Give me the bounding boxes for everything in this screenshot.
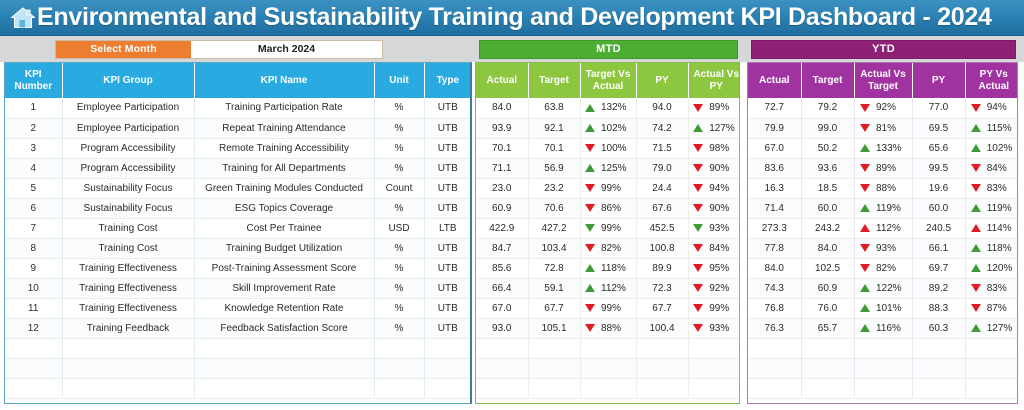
cell-empty	[580, 378, 636, 398]
trend-up-icon	[971, 204, 981, 212]
cell-mtd-py: 67.7	[636, 298, 688, 318]
cell-empty	[912, 358, 965, 378]
cell-mtd-actual-vs-py: 93%	[688, 318, 740, 338]
table-row: 422.9427.299%452.593%	[476, 218, 740, 238]
delta-percent: 84%	[987, 163, 1017, 174]
cell-kpi-group: Training Effectiveness	[62, 258, 194, 278]
trend-down-icon	[585, 244, 595, 252]
cell-mtd-actual-vs-py: 93%	[688, 218, 740, 238]
cell-unit: %	[374, 318, 424, 338]
cell-mtd-py: 71.5	[636, 138, 688, 158]
trend-up-icon	[585, 164, 595, 172]
cell-mtd-target-vs-actual: 86%	[580, 198, 636, 218]
cell-kpi-group: Employee Participation	[62, 118, 194, 138]
cell-mtd-actual-vs-py: 90%	[688, 198, 740, 218]
cell-mtd-py: 452.5	[636, 218, 688, 238]
delta-percent: 93%	[709, 323, 739, 334]
trend-down-icon	[860, 164, 870, 172]
cell-type: UTB	[424, 138, 471, 158]
trend-down-icon	[693, 184, 703, 192]
cell-mtd-py: 100.8	[636, 238, 688, 258]
trend-up-icon	[585, 284, 595, 292]
cell-mtd-py: 100.4	[636, 318, 688, 338]
cell-ytd-target: 76.0	[801, 298, 854, 318]
month-filter-bar: Select Month March 2024	[0, 36, 472, 62]
mtd-table-container: Actual Target Target Vs Actual PY Actual…	[475, 62, 740, 404]
cell-ytd-actual-vs-target: 116%	[854, 318, 912, 338]
cell-ytd-py: 60.3	[912, 318, 965, 338]
cell-kpi-number: 1	[5, 98, 62, 118]
column-header-mtd-target[interactable]: Target	[528, 63, 580, 98]
cell-mtd-target: 72.8	[528, 258, 580, 278]
table-row-empty	[476, 378, 740, 398]
cell-kpi-number: 11	[5, 298, 62, 318]
table-row: 273.3243.2112%240.5114%	[748, 218, 1018, 238]
table-row: 23.023.299%24.494%	[476, 178, 740, 198]
dashboard-body: Select Month March 2024 KPI Number KPI G…	[0, 36, 1024, 410]
delta-percent: 122%	[876, 283, 906, 294]
ytd-table: Actual Target Actual Vs Target PY PY Vs …	[748, 63, 1018, 399]
delta-percent: 90%	[709, 203, 739, 214]
table-row: 71.156.9125%79.090%	[476, 158, 740, 178]
cell-empty	[636, 338, 688, 358]
cell-mtd-actual-vs-py: 92%	[688, 278, 740, 298]
select-month-label: Select Month	[56, 41, 191, 58]
cell-ytd-actual-vs-target: 81%	[854, 118, 912, 138]
trend-up-icon	[860, 224, 870, 232]
delta-percent: 112%	[601, 283, 631, 294]
cell-kpi-number: 2	[5, 118, 62, 138]
cell-ytd-target: 50.2	[801, 138, 854, 158]
column-header-ytd-py[interactable]: PY	[912, 63, 965, 98]
cell-ytd-target: 99.0	[801, 118, 854, 138]
cell-kpi-group: Program Accessibility	[62, 158, 194, 178]
cell-kpi-group: Training Feedback	[62, 318, 194, 338]
delta-percent: 88%	[876, 183, 906, 194]
trend-up-icon	[971, 324, 981, 332]
delta-percent: 127%	[709, 123, 739, 134]
cell-mtd-target-vs-actual: 99%	[580, 218, 636, 238]
delta-percent: 99%	[601, 303, 631, 314]
table-row: 9Training EffectivenessPost-Training Ass…	[5, 258, 471, 278]
trend-down-icon	[693, 264, 703, 272]
cell-empty	[424, 358, 471, 378]
ytd-banner-bar: YTD	[744, 36, 1024, 62]
cell-empty	[854, 358, 912, 378]
cell-ytd-py: 66.1	[912, 238, 965, 258]
cell-unit: Count	[374, 178, 424, 198]
trend-up-icon	[693, 124, 703, 132]
cell-mtd-py: 89.9	[636, 258, 688, 278]
cell-mtd-actual-vs-py: 127%	[688, 118, 740, 138]
table-row-empty	[5, 378, 471, 398]
delta-percent: 133%	[876, 143, 906, 154]
trend-down-icon	[693, 284, 703, 292]
cell-ytd-actual: 77.8	[748, 238, 801, 258]
cell-empty	[476, 358, 528, 378]
column-header-kpi-group[interactable]: KPI Group	[62, 63, 194, 98]
cell-unit: %	[374, 198, 424, 218]
delta-percent: 86%	[601, 203, 631, 214]
cell-mtd-target-vs-actual: 112%	[580, 278, 636, 298]
cell-kpi-name: Feedback Satisfaction Score	[194, 318, 374, 338]
cell-ytd-actual: 79.9	[748, 118, 801, 138]
cell-ytd-py: 88.3	[912, 298, 965, 318]
cell-ytd-py-vs-actual: 83%	[965, 278, 1018, 298]
delta-percent: 132%	[601, 102, 631, 113]
cell-mtd-target: 70.1	[528, 138, 580, 158]
cell-empty	[636, 358, 688, 378]
table-row: 5Sustainability FocusGreen Training Modu…	[5, 178, 471, 198]
table-row: 84.063.8132%94.089%	[476, 98, 740, 118]
trend-down-icon	[693, 144, 703, 152]
cell-mtd-py: 79.0	[636, 158, 688, 178]
table-row: 76.365.7116%60.3127%	[748, 318, 1018, 338]
table-row: 83.693.689%99.584%	[748, 158, 1018, 178]
trend-down-icon	[971, 164, 981, 172]
cell-ytd-target: 65.7	[801, 318, 854, 338]
delta-percent: 90%	[709, 163, 739, 174]
column-header-ytd-target[interactable]: Target	[801, 63, 854, 98]
cell-kpi-group: Employee Participation	[62, 98, 194, 118]
cell-mtd-target-vs-actual: 102%	[580, 118, 636, 138]
cell-kpi-name: Repeat Training Attendance	[194, 118, 374, 138]
cell-empty	[801, 378, 854, 398]
table-row: 2Employee ParticipationRepeat Training A…	[5, 118, 471, 138]
cell-ytd-actual: 71.4	[748, 198, 801, 218]
cell-kpi-number: 4	[5, 158, 62, 178]
cell-empty	[424, 338, 471, 358]
table-row: 60.970.686%67.690%	[476, 198, 740, 218]
cell-empty	[748, 378, 801, 398]
cell-mtd-actual: 84.0	[476, 98, 528, 118]
cell-empty	[528, 378, 580, 398]
table-row: 74.360.9122%89.283%	[748, 278, 1018, 298]
table-row: 93.0105.188%100.493%	[476, 318, 740, 338]
cell-ytd-py-vs-actual: 114%	[965, 218, 1018, 238]
cell-mtd-target: 92.1	[528, 118, 580, 138]
trend-up-icon	[971, 124, 981, 132]
table-row-empty	[5, 338, 471, 358]
trend-up-icon	[585, 104, 595, 112]
cell-empty	[374, 378, 424, 398]
cell-ytd-actual-vs-target: 93%	[854, 238, 912, 258]
delta-percent: 98%	[709, 143, 739, 154]
cell-empty	[62, 358, 194, 378]
cell-kpi-number: 7	[5, 218, 62, 238]
cell-ytd-target: 79.2	[801, 98, 854, 118]
mtd-table: Actual Target Target Vs Actual PY Actual…	[476, 63, 740, 399]
cell-ytd-py-vs-actual: 115%	[965, 118, 1018, 138]
cell-kpi-number: 3	[5, 138, 62, 158]
home-icon[interactable]	[10, 6, 36, 30]
cell-mtd-actual: 66.4	[476, 278, 528, 298]
delta-percent: 112%	[876, 223, 906, 234]
table-row: 85.672.8118%89.995%	[476, 258, 740, 278]
cell-ytd-target: 84.0	[801, 238, 854, 258]
cell-empty	[528, 358, 580, 378]
table-row: 67.067.799%67.799%	[476, 298, 740, 318]
cell-ytd-py-vs-actual: 120%	[965, 258, 1018, 278]
cell-ytd-actual: 273.3	[748, 218, 801, 238]
cell-empty	[748, 338, 801, 358]
cell-ytd-py: 77.0	[912, 98, 965, 118]
cell-ytd-py: 240.5	[912, 218, 965, 238]
cell-unit: %	[374, 138, 424, 158]
table-row: 72.779.292%77.094%	[748, 98, 1018, 118]
cell-type: UTB	[424, 258, 471, 278]
column-header-ytd-actual[interactable]: Actual	[748, 63, 801, 98]
cell-kpi-group: Training Cost	[62, 238, 194, 258]
cell-empty	[5, 358, 62, 378]
cell-type: UTB	[424, 158, 471, 178]
trend-down-icon	[693, 304, 703, 312]
cell-ytd-actual: 84.0	[748, 258, 801, 278]
select-month-value[interactable]: March 2024	[191, 41, 382, 58]
trend-up-icon	[971, 264, 981, 272]
cell-ytd-target: 60.9	[801, 278, 854, 298]
trend-up-icon	[860, 324, 870, 332]
cell-ytd-py: 99.5	[912, 158, 965, 178]
cell-kpi-number: 8	[5, 238, 62, 258]
trend-up-icon	[585, 264, 595, 272]
cell-mtd-target: 59.1	[528, 278, 580, 298]
trend-down-icon	[693, 224, 703, 232]
cell-empty	[688, 378, 740, 398]
cell-mtd-py: 74.2	[636, 118, 688, 138]
table-row: 93.992.1102%74.2127%	[476, 118, 740, 138]
cell-mtd-target-vs-actual: 88%	[580, 318, 636, 338]
cell-ytd-py-vs-actual: 119%	[965, 198, 1018, 218]
delta-percent: 94%	[987, 102, 1017, 113]
cell-type: UTB	[424, 198, 471, 218]
cell-kpi-name: Remote Training Accessibility	[194, 138, 374, 158]
delta-percent: 92%	[709, 283, 739, 294]
cell-ytd-py: 19.6	[912, 178, 965, 198]
trend-down-icon	[971, 284, 981, 292]
table-row-empty	[748, 358, 1018, 378]
cell-kpi-group: Training Effectiveness	[62, 278, 194, 298]
column-header-kpi-name[interactable]: KPI Name	[194, 63, 374, 98]
cell-ytd-target: 102.5	[801, 258, 854, 278]
cell-mtd-target: 23.2	[528, 178, 580, 198]
column-header-ytd-actual-vs-target[interactable]: Actual Vs Target	[854, 63, 912, 98]
cell-empty	[854, 338, 912, 358]
cell-unit: %	[374, 118, 424, 138]
delta-percent: 119%	[987, 203, 1017, 214]
cell-mtd-actual: 60.9	[476, 198, 528, 218]
cell-ytd-py-vs-actual: 118%	[965, 238, 1018, 258]
cell-type: UTB	[424, 318, 471, 338]
trend-down-icon	[585, 184, 595, 192]
cell-kpi-group: Sustainability Focus	[62, 198, 194, 218]
table-row: 8Training CostTraining Budget Utilizatio…	[5, 238, 471, 258]
cell-empty	[854, 378, 912, 398]
cell-ytd-actual-vs-target: 89%	[854, 158, 912, 178]
mtd-banner: MTD	[479, 40, 738, 59]
cell-mtd-actual-vs-py: 89%	[688, 98, 740, 118]
trend-down-icon	[585, 224, 595, 232]
cell-unit: USD	[374, 218, 424, 238]
cell-empty	[965, 358, 1018, 378]
delta-percent: 99%	[601, 183, 631, 194]
trend-down-icon	[693, 204, 703, 212]
trend-down-icon	[693, 244, 703, 252]
cell-mtd-py: 24.4	[636, 178, 688, 198]
cell-type: UTB	[424, 98, 471, 118]
cell-ytd-actual: 67.0	[748, 138, 801, 158]
delta-percent: 114%	[987, 223, 1017, 234]
delta-percent: 119%	[876, 203, 906, 214]
cell-mtd-target: 56.9	[528, 158, 580, 178]
cell-ytd-target: 93.6	[801, 158, 854, 178]
trend-down-icon	[971, 304, 981, 312]
trend-down-icon	[860, 184, 870, 192]
table-row: 12Training FeedbackFeedback Satisfaction…	[5, 318, 471, 338]
cell-mtd-py: 94.0	[636, 98, 688, 118]
cell-unit: %	[374, 278, 424, 298]
trend-up-icon	[971, 244, 981, 252]
delta-percent: 101%	[876, 303, 906, 314]
cell-empty	[476, 378, 528, 398]
cell-empty	[476, 338, 528, 358]
delta-percent: 93%	[709, 223, 739, 234]
table-row-empty	[476, 358, 740, 378]
cell-empty	[688, 358, 740, 378]
cell-empty	[801, 338, 854, 358]
table-row: 1Employee ParticipationTraining Particip…	[5, 98, 471, 118]
kpi-table-body: 1Employee ParticipationTraining Particip…	[5, 98, 471, 398]
cell-kpi-number: 12	[5, 318, 62, 338]
column-header-mtd-actual-vs-py[interactable]: Actual Vs PY	[688, 63, 740, 98]
cell-ytd-py: 69.7	[912, 258, 965, 278]
column-header-ytd-py-vs-actual[interactable]: PY Vs Actual	[965, 63, 1018, 98]
trend-down-icon	[860, 244, 870, 252]
cell-ytd-actual: 74.3	[748, 278, 801, 298]
table-row: 66.459.1112%72.392%	[476, 278, 740, 298]
column-header-mtd-actual[interactable]: Actual	[476, 63, 528, 98]
cell-mtd-actual-vs-py: 98%	[688, 138, 740, 158]
cell-ytd-target: 18.5	[801, 178, 854, 198]
cell-mtd-actual: 84.7	[476, 238, 528, 258]
cell-ytd-py: 60.0	[912, 198, 965, 218]
cell-empty	[912, 378, 965, 398]
cell-type: UTB	[424, 118, 471, 138]
cell-kpi-name: Knowledge Retention Rate	[194, 298, 374, 318]
column-header-mtd-py[interactable]: PY	[636, 63, 688, 98]
column-header-type[interactable]: Type	[424, 63, 471, 98]
ytd-table-body: 72.779.292%77.094%79.999.081%69.5115%67.…	[748, 98, 1018, 398]
cell-empty	[374, 338, 424, 358]
delta-percent: 127%	[987, 323, 1017, 334]
table-row: 76.876.0101%88.387%	[748, 298, 1018, 318]
trend-down-icon	[693, 164, 703, 172]
cell-kpi-name: Green Training Modules Conducted	[194, 178, 374, 198]
trend-down-icon	[860, 124, 870, 132]
cell-mtd-target: 63.8	[528, 98, 580, 118]
delta-percent: 118%	[987, 243, 1017, 254]
cell-empty	[5, 378, 62, 398]
cell-ytd-actual: 83.6	[748, 158, 801, 178]
trend-down-icon	[585, 304, 595, 312]
delta-percent: 93%	[876, 243, 906, 254]
cell-mtd-target-vs-actual: 125%	[580, 158, 636, 178]
cell-kpi-name: Post-Training Assessment Score	[194, 258, 374, 278]
cell-empty	[965, 378, 1018, 398]
cell-ytd-py-vs-actual: 83%	[965, 178, 1018, 198]
cell-ytd-py-vs-actual: 94%	[965, 98, 1018, 118]
cell-kpi-name: Training Budget Utilization	[194, 238, 374, 258]
cell-mtd-target-vs-actual: 100%	[580, 138, 636, 158]
cell-ytd-actual-vs-target: 82%	[854, 258, 912, 278]
cell-empty	[194, 358, 374, 378]
mtd-banner-bar: MTD	[472, 36, 744, 62]
select-month-control[interactable]: Select Month March 2024	[55, 40, 383, 59]
table-row: 16.318.588%19.683%	[748, 178, 1018, 198]
cell-unit: %	[374, 258, 424, 278]
mtd-table-body: 84.063.8132%94.089%93.992.1102%74.2127%7…	[476, 98, 740, 398]
trend-down-icon	[971, 104, 981, 112]
delta-percent: 82%	[601, 243, 631, 254]
cell-type: UTB	[424, 278, 471, 298]
delta-percent: 82%	[876, 263, 906, 274]
column-header-mtd-target-vs-actual[interactable]: Target Vs Actual	[580, 63, 636, 98]
column-header-unit[interactable]: Unit	[374, 63, 424, 98]
delta-percent: 118%	[601, 263, 631, 274]
table-row: 3Program AccessibilityRemote Training Ac…	[5, 138, 471, 158]
table-row: 4Program AccessibilityTraining for All D…	[5, 158, 471, 178]
cell-kpi-group: Training Effectiveness	[62, 298, 194, 318]
cell-ytd-py: 89.2	[912, 278, 965, 298]
trend-up-icon	[860, 284, 870, 292]
column-header-kpi-number[interactable]: KPI Number	[5, 63, 62, 98]
cell-mtd-actual-vs-py: 99%	[688, 298, 740, 318]
trend-down-icon	[693, 104, 703, 112]
table-row-empty	[5, 358, 471, 378]
table-row-empty	[476, 338, 740, 358]
cell-empty	[5, 338, 62, 358]
cell-mtd-actual: 67.0	[476, 298, 528, 318]
cell-type: LTB	[424, 218, 471, 238]
cell-mtd-py: 72.3	[636, 278, 688, 298]
cell-kpi-name: Cost Per Trainee	[194, 218, 374, 238]
cell-unit: %	[374, 158, 424, 178]
cell-empty	[194, 378, 374, 398]
ytd-table-container: Actual Target Actual Vs Target PY PY Vs …	[747, 62, 1018, 404]
cell-type: UTB	[424, 178, 471, 198]
delta-percent: 116%	[876, 323, 906, 334]
trend-up-icon	[971, 144, 981, 152]
cell-mtd-actual-vs-py: 95%	[688, 258, 740, 278]
title-bar: Environmental and Sustainability Trainin…	[0, 0, 1024, 36]
cell-mtd-actual: 23.0	[476, 178, 528, 198]
ytd-header-row: Actual Target Actual Vs Target PY PY Vs …	[748, 63, 1018, 98]
cell-mtd-target-vs-actual: 99%	[580, 178, 636, 198]
trend-up-icon	[860, 204, 870, 212]
cell-mtd-actual: 93.9	[476, 118, 528, 138]
cell-ytd-actual-vs-target: 119%	[854, 198, 912, 218]
delta-percent: 99%	[601, 223, 631, 234]
cell-unit: %	[374, 98, 424, 118]
ytd-panel: YTD Actual Target Actual Vs Target PY PY…	[744, 36, 1024, 410]
table-row: 11Training EffectivenessKnowledge Retent…	[5, 298, 471, 318]
delta-percent: 94%	[709, 183, 739, 194]
cell-ytd-actual-vs-target: 112%	[854, 218, 912, 238]
kpi-table-container: KPI Number KPI Group KPI Name Unit Type …	[4, 62, 472, 404]
cell-type: UTB	[424, 298, 471, 318]
cell-empty	[374, 358, 424, 378]
trend-down-icon	[585, 204, 595, 212]
